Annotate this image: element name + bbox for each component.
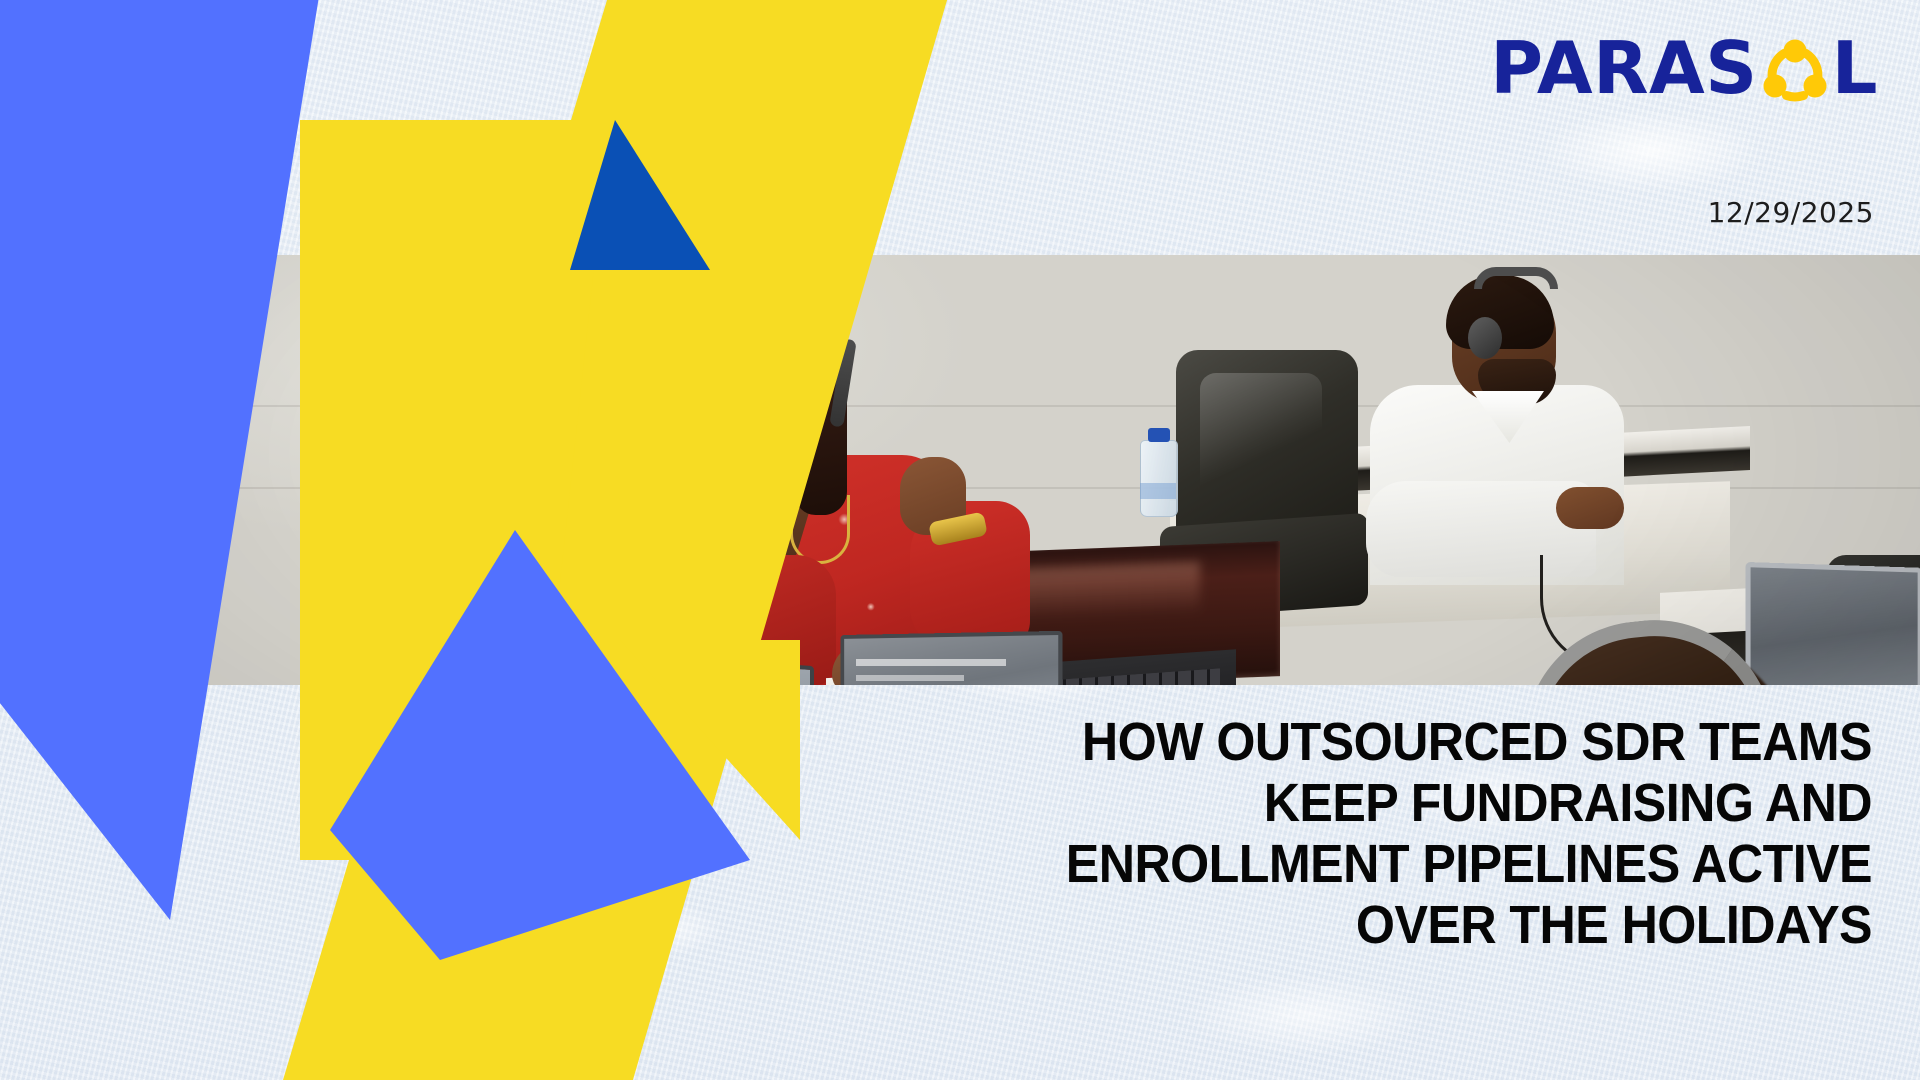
headline-line-2: KEEP FUNDRAISING AND xyxy=(942,773,1872,834)
page-title: HOW OUTSOURCED SDR TEAMS KEEP FUNDRAISIN… xyxy=(942,712,1872,956)
headline-line-1: HOW OUTSOURCED SDR TEAMS xyxy=(942,712,1872,773)
banner-canvas: PARAS L 12/29/2025 HOW OUTSOURCED SDR TE… xyxy=(0,0,1920,1080)
headline-line-4: OVER THE HOLIDAYS xyxy=(942,895,1872,956)
headline-line-3: ENROLLMENT PIPELINES ACTIVE xyxy=(942,834,1872,895)
publish-date: 12/29/2025 xyxy=(1708,196,1874,229)
parasol-logo[interactable]: PARAS L xyxy=(1490,32,1878,104)
photo-vignette xyxy=(0,255,1920,685)
logo-wordmark-right: L xyxy=(1832,32,1878,104)
parasol-triple-dot-icon xyxy=(1760,33,1830,103)
hero-photo xyxy=(0,255,1920,685)
logo-wordmark-left: PARAS xyxy=(1490,32,1757,104)
